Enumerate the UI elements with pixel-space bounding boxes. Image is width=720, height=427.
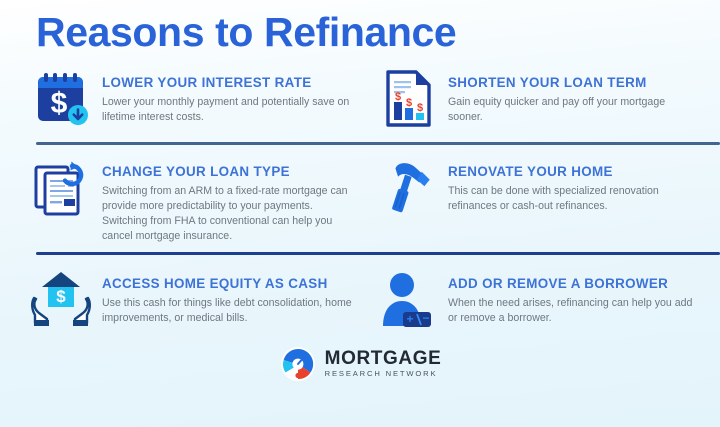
gauge-circle-logo-icon [279, 345, 317, 383]
reason-text-block: ACCESS HOME EQUITY AS CASH Use this cash… [102, 269, 360, 326]
reason-heading: ADD OR REMOVE A BORROWER [448, 277, 696, 292]
svg-text:$: $ [406, 97, 412, 109]
reason-heading: LOWER YOUR INTEREST RATE [102, 76, 360, 91]
hammer-icon [376, 157, 438, 219]
reason-description: This can be done with specialized renova… [448, 184, 696, 214]
svg-text:+: + [406, 312, 413, 326]
brand-text: MORTGAGE RESEARCH NETWORK [325, 349, 442, 378]
reason-heading: CHANGE YOUR LOAN TYPE [102, 165, 360, 180]
reason-description: Lower your monthly payment and potential… [102, 95, 360, 125]
reason-item-add-or-remove-a-borrower: + − ADD OR REMOVE A BORROWER When the ne… [370, 269, 702, 331]
reason-description: Gain equity quicker and pay off your mor… [448, 95, 696, 125]
reason-text-block: LOWER YOUR INTEREST RATE Lower your mont… [102, 68, 360, 125]
reasons-row-3: $ ACCESS HOME EQUITY AS CASH Use this ca… [18, 269, 702, 331]
svg-text:$: $ [395, 91, 401, 103]
reason-item-change-your-loan-type: CHANGE YOUR LOAN TYPE Switching from an … [18, 157, 370, 244]
section-divider [36, 252, 720, 255]
brand-name: MORTGAGE [325, 349, 442, 368]
title-container: Reasons to Refinance [18, 0, 702, 62]
reason-text-block: SHORTEN YOUR LOAN TERM Gain equity quick… [448, 68, 696, 125]
svg-text:−: − [422, 311, 429, 325]
person-plus-minus-icon: + − [376, 269, 438, 331]
reason-item-lower-your-interest-rate: $ LOWER YOUR INTEREST RATE Lower your mo… [18, 68, 370, 130]
reason-heading: SHORTEN YOUR LOAN TERM [448, 76, 696, 91]
reasons-row-1: $ LOWER YOUR INTEREST RATE Lower your mo… [18, 68, 702, 130]
reason-description: Use this cash for things like debt conso… [102, 296, 360, 326]
reason-item-shorten-your-loan-term: $ $ $ SHORTEN YOUR LOAN TERM Gain equity… [370, 68, 702, 130]
reason-description: When the need arises, refinancing can he… [448, 296, 696, 326]
house-dollar-hands-icon: $ [30, 269, 92, 331]
reason-text-block: ADD OR REMOVE A BORROWER When the need a… [448, 269, 696, 326]
section-divider [36, 142, 720, 145]
svg-text:$: $ [51, 87, 68, 120]
reason-description: Switching from an ARM to a fixed-rate mo… [102, 184, 360, 244]
documents-swap-arrow-icon [30, 157, 92, 219]
infographic-root: Reasons to Refinance $ LOWER [0, 0, 720, 427]
document-bar-chart-dollar-icon: $ $ $ [376, 68, 438, 130]
svg-text:$: $ [56, 287, 66, 306]
page-title: Reasons to Refinance [36, 10, 702, 56]
svg-text:$: $ [417, 102, 423, 114]
reason-text-block: RENOVATE YOUR HOME This can be done with… [448, 157, 696, 214]
reason-heading: RENOVATE YOUR HOME [448, 165, 696, 180]
reasons-row-2: CHANGE YOUR LOAN TYPE Switching from an … [18, 157, 702, 244]
reason-text-block: CHANGE YOUR LOAN TYPE Switching from an … [102, 157, 360, 244]
footer-logo: MORTGAGE RESEARCH NETWORK [18, 345, 702, 383]
reason-heading: ACCESS HOME EQUITY AS CASH [102, 277, 360, 292]
reason-item-access-home-equity-as-cash: $ ACCESS HOME EQUITY AS CASH Use this ca… [18, 269, 370, 331]
brand-tagline: RESEARCH NETWORK [325, 370, 442, 378]
reason-item-renovate-your-home: RENOVATE YOUR HOME This can be done with… [370, 157, 702, 244]
calendar-dollar-down-icon: $ [30, 68, 92, 130]
